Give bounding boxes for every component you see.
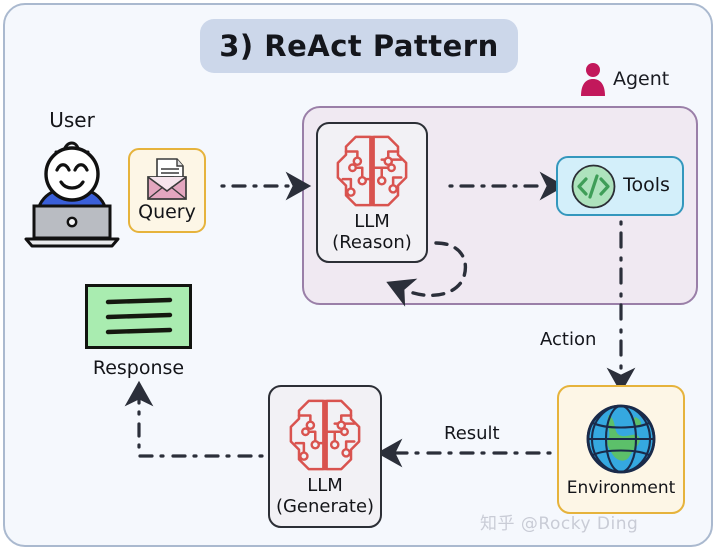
query-node[interactable]: Query: [128, 148, 206, 233]
tools-label: Tools: [623, 175, 670, 196]
response-node[interactable]: [85, 284, 192, 349]
llm-generate-node[interactable]: LLM (Generate): [268, 385, 382, 528]
environment-node[interactable]: Environment: [557, 385, 685, 514]
brain-circuit-icon: [284, 396, 366, 474]
user-at-laptop-icon: [16, 132, 128, 250]
llm-reason-node[interactable]: LLM (Reason): [316, 122, 428, 263]
llm-reason-label-1: LLM: [332, 212, 412, 232]
code-brackets-icon: [570, 163, 617, 210]
globe-icon: [583, 401, 659, 477]
agent-label: Agent: [613, 68, 669, 90]
action-edge-label: Action: [540, 329, 596, 350]
brain-circuit-icon: [331, 132, 413, 210]
response-label: Response: [85, 357, 192, 379]
watermark: 知乎 @Rocky Ding: [480, 509, 638, 534]
envelope-document-icon: [143, 157, 191, 203]
diagram-canvas: 3) ReAct Pattern Agent User: [0, 0, 716, 550]
environment-label: Environment: [567, 479, 676, 498]
llm-generate-label-2: (Generate): [276, 497, 374, 517]
tools-node[interactable]: Tools: [556, 156, 684, 216]
document-lines-icon: [88, 287, 189, 346]
query-label: Query: [138, 202, 196, 223]
person-icon: [580, 62, 606, 96]
page-title: 3) ReAct Pattern: [200, 19, 518, 73]
llm-generate-label-1: LLM: [276, 476, 374, 496]
user-label: User: [32, 108, 112, 132]
llm-reason-label-2: (Reason): [332, 233, 412, 253]
result-edge-label: Result: [444, 423, 500, 444]
